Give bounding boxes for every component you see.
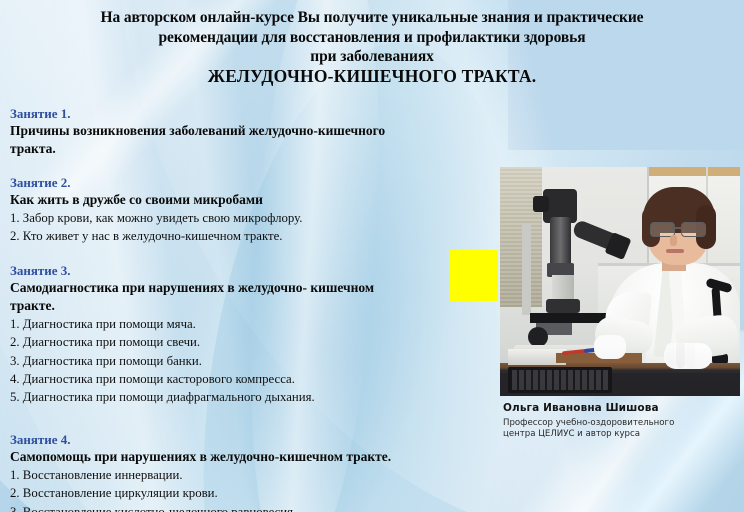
lesson-title-line-1: Самопомощь при нарушениях в желудочно-ки…	[10, 448, 480, 466]
lesson-title-line-1: Как жить в дружбе со своими микробами	[10, 191, 480, 209]
spacer	[10, 160, 480, 174]
lesson-item: 1. Диагностика при помощи мяча.	[10, 315, 480, 333]
lesson-item: 5. Диагностика при помощи диафрагмальног…	[10, 388, 480, 406]
caption-role: Профессор учебно-оздоровительного центра…	[503, 418, 733, 439]
spacer	[10, 248, 480, 262]
lesson-item: 2. Восстановление циркуляции крови.	[10, 484, 480, 502]
lesson-item: 1. Забор крови, как можно увидеть свою м…	[10, 209, 480, 227]
lesson-block-2: Занятие 2. Как жить в дружбе со своими м…	[10, 174, 480, 246]
lesson-item: 3. Восстановление кислотно-щелочного рав…	[10, 503, 480, 512]
caption-name: Ольга Ивановна Шишова	[503, 401, 733, 415]
spacer	[10, 409, 480, 431]
lesson-block-4: Занятие 4. Самопомощь при нарушениях в ж…	[10, 431, 480, 512]
lesson-title-line-1: Самодиагностика при нарушениях в желудоч…	[10, 279, 480, 297]
lesson-item: 1. Восстановление иннервации.	[10, 466, 480, 484]
title-line-2: рекомендации для восстановления и профил…	[0, 28, 744, 48]
lesson-block-1: Занятие 1. Причины возникновения заболев…	[10, 105, 480, 158]
lesson-number: Занятие 1.	[10, 105, 480, 122]
lesson-item: 2. Диагностика при помощи свечи.	[10, 333, 480, 351]
portrait-photo	[500, 167, 740, 396]
title-line-3: при заболеваниях	[0, 47, 744, 67]
lesson-block-3: Занятие 3. Самодиагностика при нарушения…	[10, 262, 480, 407]
lesson-title-line-2: тракте.	[10, 297, 480, 315]
lesson-item: 4. Диагностика при помощи касторового ко…	[10, 370, 480, 388]
presentation-slide: На авторском онлайн-курсе Вы получите ун…	[0, 0, 744, 512]
lesson-item: 3. Диагностика при помощи банки.	[10, 352, 480, 370]
title-line-1: На авторском онлайн-курсе Вы получите ун…	[0, 8, 744, 28]
lesson-title-line-2: тракта.	[10, 140, 480, 158]
photo-vignette	[500, 167, 740, 396]
lesson-item: 2. Кто живет у нас в желудочно-кишечном …	[10, 227, 480, 245]
lesson-number: Занятие 2.	[10, 174, 480, 191]
portrait-caption: Ольга Ивановна Шишова Профессор учебно-о…	[503, 401, 733, 439]
title-line-4: ЖЕЛУДОЧНО-КИШЕЧНОГО ТРАКТА.	[0, 67, 744, 87]
lesson-number: Занятие 3.	[10, 262, 480, 279]
lesson-number: Занятие 4.	[10, 431, 480, 448]
yellow-highlight-block	[450, 250, 498, 301]
lesson-title-line-1: Причины возникновения заболеваний желудо…	[10, 122, 480, 140]
caption-role-line-2: центра ЦЕЛИУС и автор курса	[503, 429, 733, 440]
lesson-list: Занятие 1. Причины возникновения заболев…	[10, 105, 480, 512]
slide-title: На авторском онлайн-курсе Вы получите ун…	[0, 8, 744, 86]
caption-role-line-1: Профессор учебно-оздоровительного	[503, 418, 733, 429]
